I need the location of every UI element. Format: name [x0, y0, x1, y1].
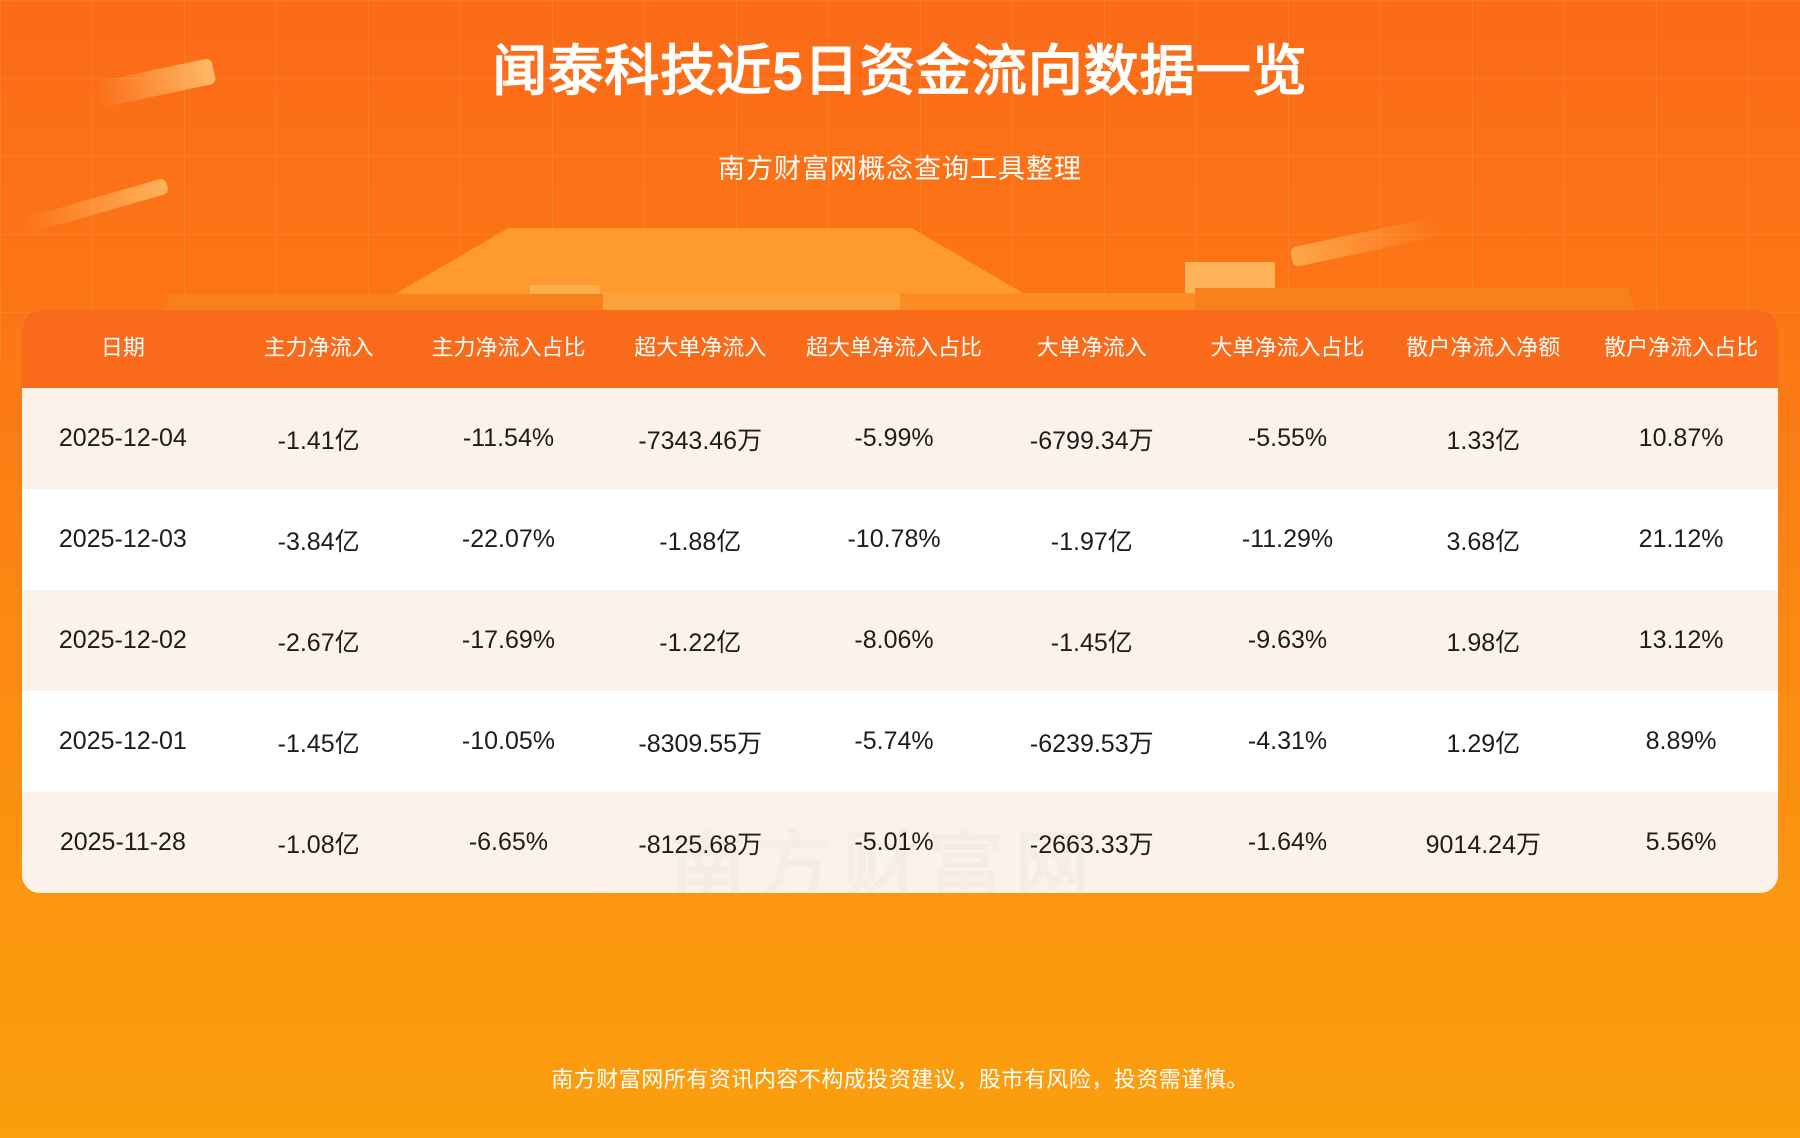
disclaimer-note: 南方财富网所有资讯内容不构成投资建议，股市有风险，投资需谨慎。	[0, 1062, 1800, 1094]
cell-retail-pct: 13.12%	[1584, 590, 1778, 691]
fund-flow-table: 日期 主力净流入 主力净流入占比 超大单净流入 超大单净流入占比 大单净流入 大…	[22, 310, 1778, 893]
cell-large-pct: -5.55%	[1193, 388, 1383, 489]
cell-extra-large-pct: -8.06%	[797, 590, 991, 691]
table-row: 2025-11-28 -1.08亿 -6.65% -8125.68万 -5.01…	[22, 792, 1778, 893]
cell-date: 2025-11-28	[22, 792, 224, 893]
table-row: 2025-12-04 -1.41亿 -11.54% -7343.46万 -5.9…	[22, 388, 1778, 489]
cell-retail-net: 1.33亿	[1382, 388, 1584, 489]
decorative-podium-top	[395, 228, 1025, 294]
cell-extra-large-pct: -5.74%	[797, 691, 991, 792]
cell-extra-large-net: -1.22亿	[603, 590, 797, 691]
cell-main-pct: -11.54%	[414, 388, 604, 489]
cell-main-net: -1.08亿	[224, 792, 414, 893]
header-row: 日期 主力净流入 主力净流入占比 超大单净流入 超大单净流入占比 大单净流入 大…	[22, 310, 1778, 388]
cell-date: 2025-12-01	[22, 691, 224, 792]
cell-large-net: -1.45亿	[991, 590, 1193, 691]
decorative-streak	[21, 178, 170, 235]
cell-main-pct: -17.69%	[414, 590, 604, 691]
cell-retail-net: 1.29亿	[1382, 691, 1584, 792]
cell-retail-net: 9014.24万	[1382, 792, 1584, 893]
cell-retail-pct: 8.89%	[1584, 691, 1778, 792]
cell-main-pct: -6.65%	[414, 792, 604, 893]
cell-extra-large-pct: -10.78%	[797, 489, 991, 590]
table-row: 2025-12-01 -1.45亿 -10.05% -8309.55万 -5.7…	[22, 691, 1778, 792]
cell-extra-large-pct: -5.99%	[797, 388, 991, 489]
table-row: 2025-12-03 -3.84亿 -22.07% -1.88亿 -10.78%…	[22, 489, 1778, 590]
cell-retail-pct: 10.87%	[1584, 388, 1778, 489]
cell-date: 2025-12-02	[22, 590, 224, 691]
column-header-date: 日期	[22, 310, 224, 388]
cell-main-pct: -10.05%	[414, 691, 604, 792]
data-card: 南方财富网 Southmoney.com 日期 主力净流入 主力净流入占比 超大…	[22, 310, 1778, 893]
cell-retail-pct: 21.12%	[1584, 489, 1778, 590]
page-title: 闻泰科技近5日资金流向数据一览	[0, 38, 1800, 104]
decorative-streak	[1290, 217, 1441, 268]
cell-extra-large-net: -8309.55万	[603, 691, 797, 792]
cell-large-pct: -9.63%	[1193, 590, 1383, 691]
cell-date: 2025-12-04	[22, 388, 224, 489]
cell-extra-large-pct: -5.01%	[797, 792, 991, 893]
cell-large-net: -6239.53万	[991, 691, 1193, 792]
cell-retail-net: 1.98亿	[1382, 590, 1584, 691]
infographic-page: 闻泰科技近5日资金流向数据一览 南方财富网概念查询工具整理 南方财富网 Sout…	[0, 0, 1800, 1138]
column-header-extra-large-pct: 超大单净流入占比	[797, 310, 991, 388]
cell-large-pct: -11.29%	[1193, 489, 1383, 590]
table-row: 2025-12-02 -2.67亿 -17.69% -1.22亿 -8.06% …	[22, 590, 1778, 691]
cell-main-pct: -22.07%	[414, 489, 604, 590]
cell-large-net: -2663.33万	[991, 792, 1193, 893]
column-header-large-pct: 大单净流入占比	[1193, 310, 1383, 388]
cell-main-net: -2.67亿	[224, 590, 414, 691]
cell-extra-large-net: -7343.46万	[603, 388, 797, 489]
decorative-block	[1185, 262, 1275, 296]
page-subtitle: 南方财富网概念查询工具整理	[0, 147, 1800, 186]
column-header-main-net: 主力净流入	[224, 310, 414, 388]
cell-date: 2025-12-03	[22, 489, 224, 590]
cell-retail-pct: 5.56%	[1584, 792, 1778, 893]
column-header-main-pct: 主力净流入占比	[414, 310, 604, 388]
cell-large-pct: -4.31%	[1193, 691, 1383, 792]
column-header-retail-pct: 散户净流入占比	[1584, 310, 1778, 388]
cell-main-net: -1.41亿	[224, 388, 414, 489]
decorative-block	[530, 285, 600, 311]
column-header-retail-net: 散户净流入净额	[1382, 310, 1584, 388]
cell-main-net: -3.84亿	[224, 489, 414, 590]
column-header-extra-large-net: 超大单净流入	[603, 310, 797, 388]
cell-extra-large-net: -1.88亿	[603, 489, 797, 590]
cell-main-net: -1.45亿	[224, 691, 414, 792]
cell-large-pct: -1.64%	[1193, 792, 1383, 893]
column-header-large-net: 大单净流入	[991, 310, 1193, 388]
cell-large-net: -6799.34万	[991, 388, 1193, 489]
table-header: 日期 主力净流入 主力净流入占比 超大单净流入 超大单净流入占比 大单净流入 大…	[22, 310, 1778, 388]
table-body: 2025-12-04 -1.41亿 -11.54% -7343.46万 -5.9…	[22, 388, 1778, 893]
cell-large-net: -1.97亿	[991, 489, 1193, 590]
cell-retail-net: 3.68亿	[1382, 489, 1584, 590]
cell-extra-large-net: -8125.68万	[603, 792, 797, 893]
